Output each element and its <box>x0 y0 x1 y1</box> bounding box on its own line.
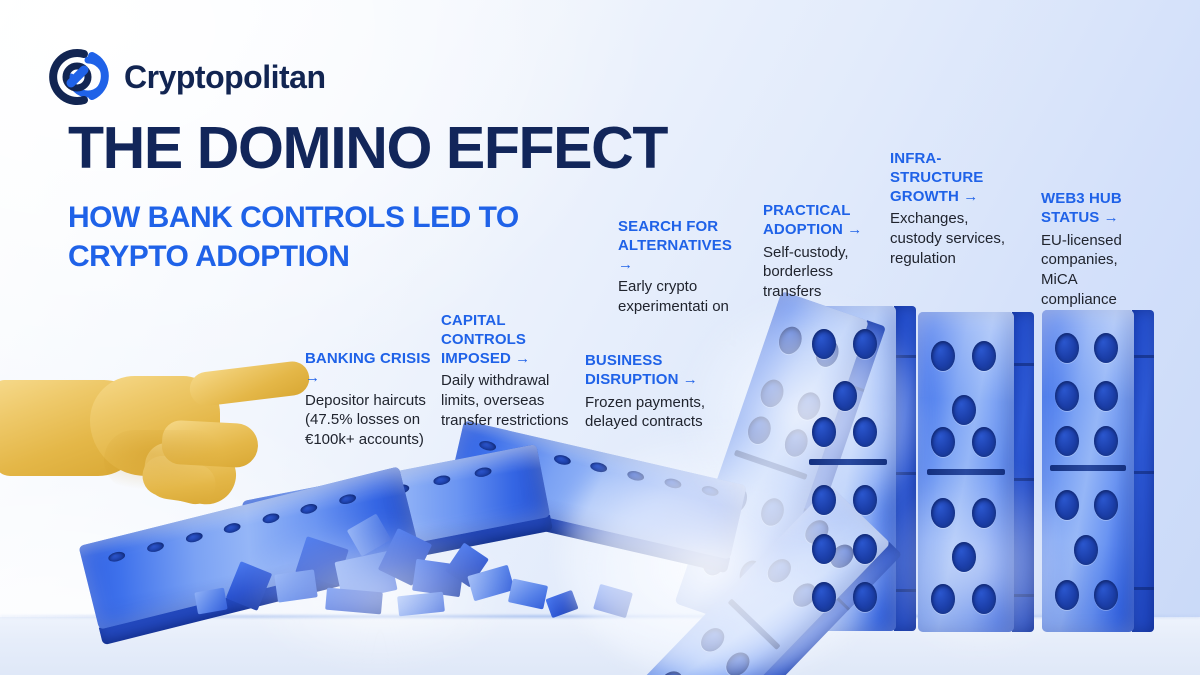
arrow-icon: → <box>963 188 978 205</box>
domino-side-face <box>1012 312 1034 632</box>
callout-heading: WEB3 HUB STATUS → <box>1041 190 1151 228</box>
callout-web3-hub-status: WEB3 HUB STATUS → EU-licensed companies,… <box>1041 190 1151 310</box>
page-subtitle: HOW BANK CONTROLS LED TO CRYPTO ADOPTION <box>68 198 628 276</box>
domino-divider-bar <box>927 469 1006 475</box>
callout-business-disruption: BUSINESS DISRUPTION → Frozen payments, d… <box>585 352 727 432</box>
callout-capital-controls-imposed: CAPITAL CONTROLS IMPOSED → Daily withdra… <box>441 312 581 431</box>
arrow-icon: → <box>847 221 862 238</box>
callout-heading: BANKING CRISIS → <box>305 350 435 388</box>
hand-shading <box>104 430 224 490</box>
callout-body: Self-custody, borderless transfers <box>763 243 885 303</box>
arrow-icon: → <box>515 350 530 367</box>
brand-name: Cryptopolitan <box>124 59 325 96</box>
callout-body: EU-licensed companies, MiCA compliance <box>1041 231 1151 311</box>
cryptopolitan-circular-logo-icon <box>48 46 110 108</box>
infographic-canvas: Cryptopolitan THE DOMINO EFFECT HOW BANK… <box>0 0 1200 675</box>
callout-banking-crisis: BANKING CRISIS → Depositor haircuts (47.… <box>305 350 435 450</box>
arrow-icon: → <box>305 369 320 386</box>
pointing-hand-illustration <box>0 368 294 528</box>
domino-side-face <box>894 306 916 631</box>
domino-standing-2 <box>918 312 1014 632</box>
callout-heading: PRACTICAL ADOPTION → <box>763 202 885 240</box>
domino-divider-bar <box>1050 465 1125 471</box>
callout-body: Daily withdrawal limits, overseas transf… <box>441 371 581 431</box>
domino-side-face <box>1132 310 1154 632</box>
callout-infrastructure-growth: INFRA-STRUCTURE GROWTH → Exchanges, cust… <box>890 150 1010 269</box>
callout-body: Depositor haircuts (47.5% losses on €100… <box>305 391 435 451</box>
callout-search-for-alternatives: SEARCH FOR ALTERNATIVES → Early crypto e… <box>618 218 746 317</box>
domino-divider-bar <box>809 459 888 465</box>
domino-standing-3 <box>1042 310 1134 632</box>
domino-front-face <box>1042 310 1134 632</box>
hand-index-finger <box>188 360 311 408</box>
callout-heading: SEARCH FOR ALTERNATIVES → <box>618 218 746 274</box>
callout-heading: CAPITAL CONTROLS IMPOSED → <box>441 312 581 368</box>
arrow-icon: → <box>683 371 698 388</box>
callout-practical-adoption: PRACTICAL ADOPTION → Self-custody, borde… <box>763 202 885 302</box>
callout-body: Exchanges, custody services, regulation <box>890 209 1010 269</box>
callout-heading: BUSINESS DISRUPTION → <box>585 352 727 390</box>
callout-body: Early crypto experimentati on <box>618 277 746 317</box>
arrow-icon: → <box>1104 209 1119 226</box>
page-title: THE DOMINO EFFECT <box>68 118 667 178</box>
brand-logo[interactable]: Cryptopolitan <box>48 46 325 108</box>
callout-body: Frozen payments, delayed contracts <box>585 393 727 433</box>
callout-heading: INFRA-STRUCTURE GROWTH → <box>890 150 1010 206</box>
arrow-icon: → <box>618 256 633 273</box>
